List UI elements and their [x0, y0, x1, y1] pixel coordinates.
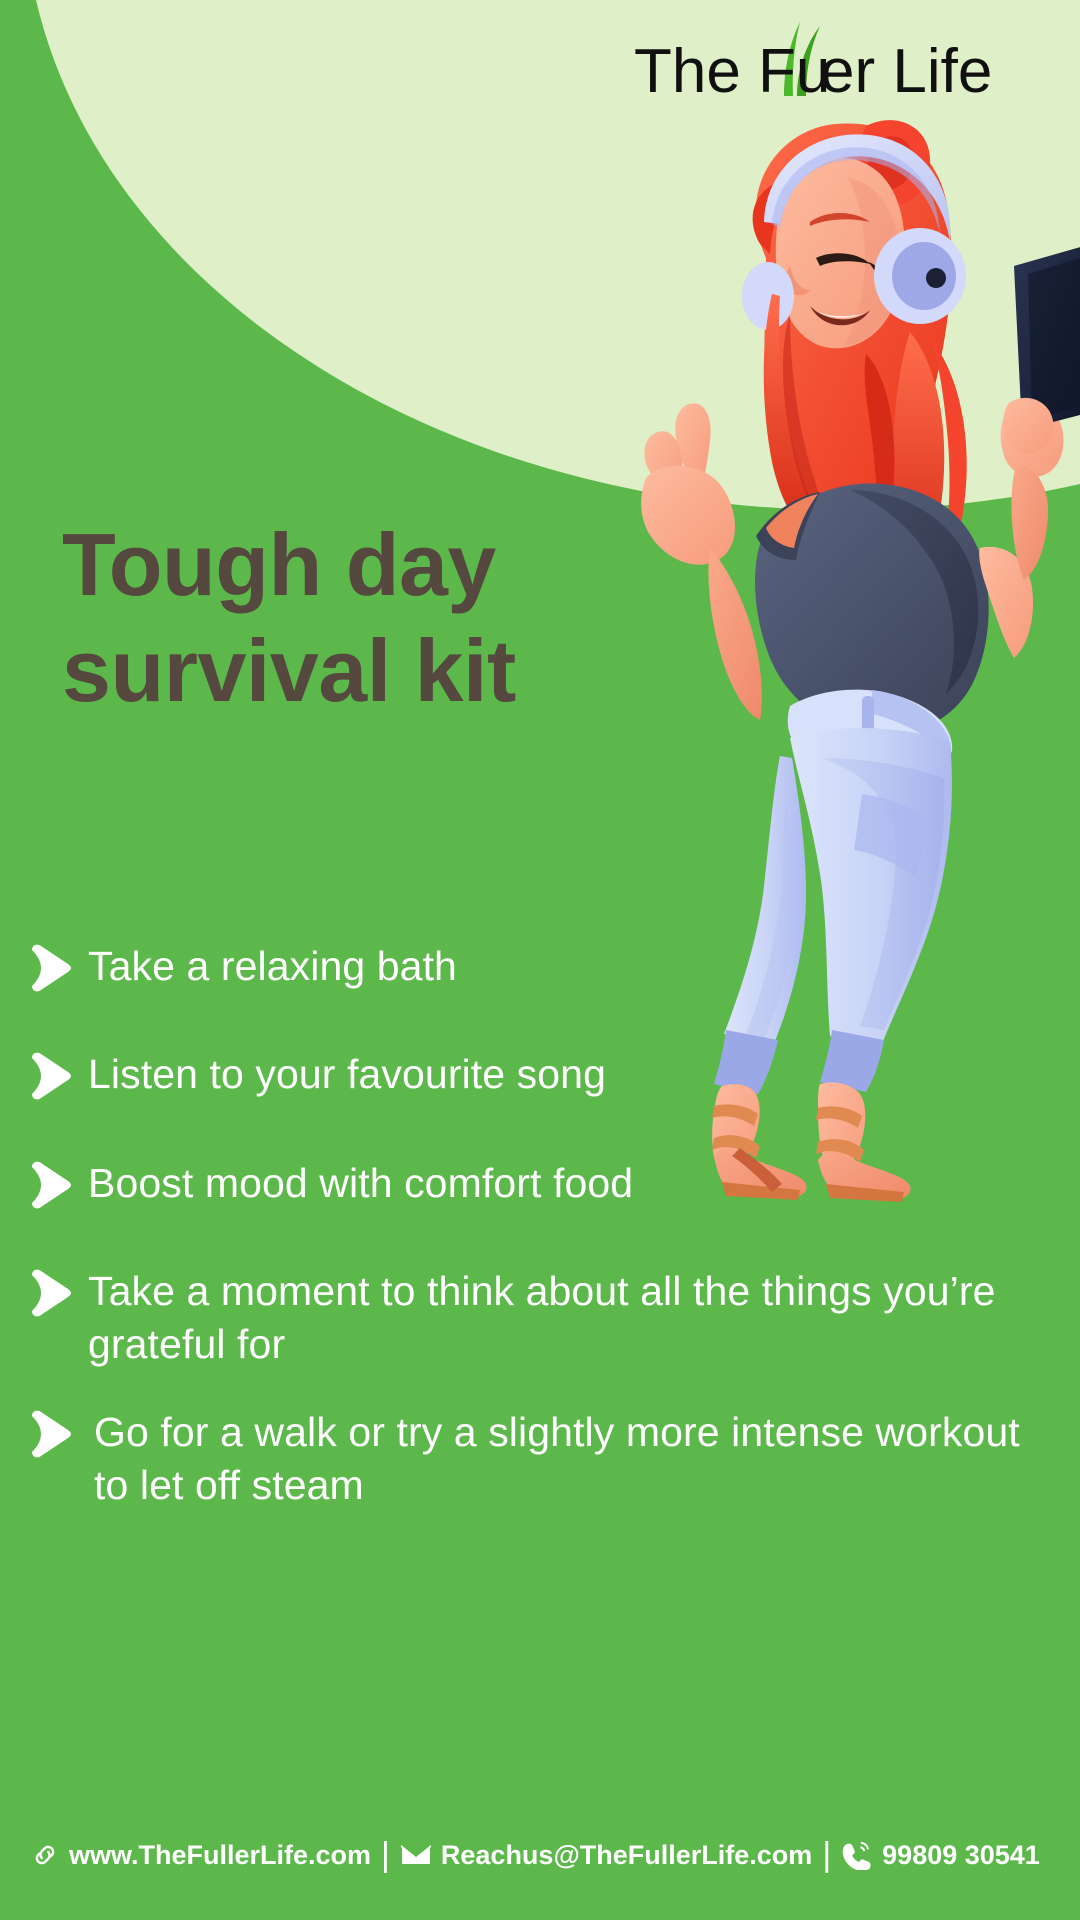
footer-separator-2: | — [822, 1838, 831, 1872]
footer-website-text: www.TheFullerLife.com — [69, 1840, 371, 1871]
list-item-text: Boost mood with comfort food — [88, 1157, 633, 1209]
list-item: Go for a walk or try a slightly more int… — [28, 1406, 1058, 1511]
arrow-bullet-icon — [28, 1269, 72, 1317]
list-item: Listen to your favourite song — [28, 1048, 1058, 1100]
tips-list: Take a relaxing bath Listen to your favo… — [28, 940, 1058, 1567]
arrow-bullet-icon — [28, 1052, 72, 1100]
phone-icon — [841, 1840, 873, 1870]
page-title: Tough day survival kit — [62, 512, 516, 723]
list-item-text: Listen to your favourite song — [88, 1048, 606, 1100]
svg-text:er Life: er Life — [820, 37, 992, 100]
list-item: Take a relaxing bath — [28, 940, 1058, 992]
arrow-bullet-icon — [28, 944, 72, 992]
list-item-text: Go for a walk or try a slightly more int… — [88, 1406, 1058, 1511]
list-item-text: Take a moment to think about all the thi… — [88, 1265, 1058, 1370]
poster-root: The Fu er Life — [0, 0, 1080, 1920]
footer-phone-text: 99809 30541 — [882, 1840, 1040, 1871]
logo-svg: The Fu er Life — [634, 22, 1054, 100]
footer-phone[interactable]: 99809 30541 — [841, 1840, 1040, 1871]
brand-logo[interactable]: The Fu er Life — [634, 28, 1054, 100]
arrow-bullet-icon — [28, 1410, 72, 1458]
footer-separator-1: | — [381, 1838, 390, 1872]
arrow-bullet-icon — [28, 1161, 72, 1209]
list-item: Take a moment to think about all the thi… — [28, 1265, 1058, 1370]
footer-email[interactable]: Reachus@TheFullerLife.com — [400, 1840, 812, 1871]
headline-line-1: Tough day — [62, 512, 516, 618]
contact-footer: www.TheFullerLife.com | Reachus@TheFulle… — [0, 1790, 1080, 1920]
list-item: Boost mood with comfort food — [28, 1157, 1058, 1209]
footer-website[interactable]: www.TheFullerLife.com — [30, 1840, 371, 1871]
footer-email-text: Reachus@TheFullerLife.com — [441, 1840, 812, 1871]
list-item-text: Take a relaxing bath — [88, 940, 457, 992]
headline-line-2: survival kit — [62, 618, 516, 724]
link-icon — [30, 1840, 60, 1870]
envelope-icon — [400, 1842, 432, 1868]
svg-text:The Fu: The Fu — [634, 37, 830, 100]
